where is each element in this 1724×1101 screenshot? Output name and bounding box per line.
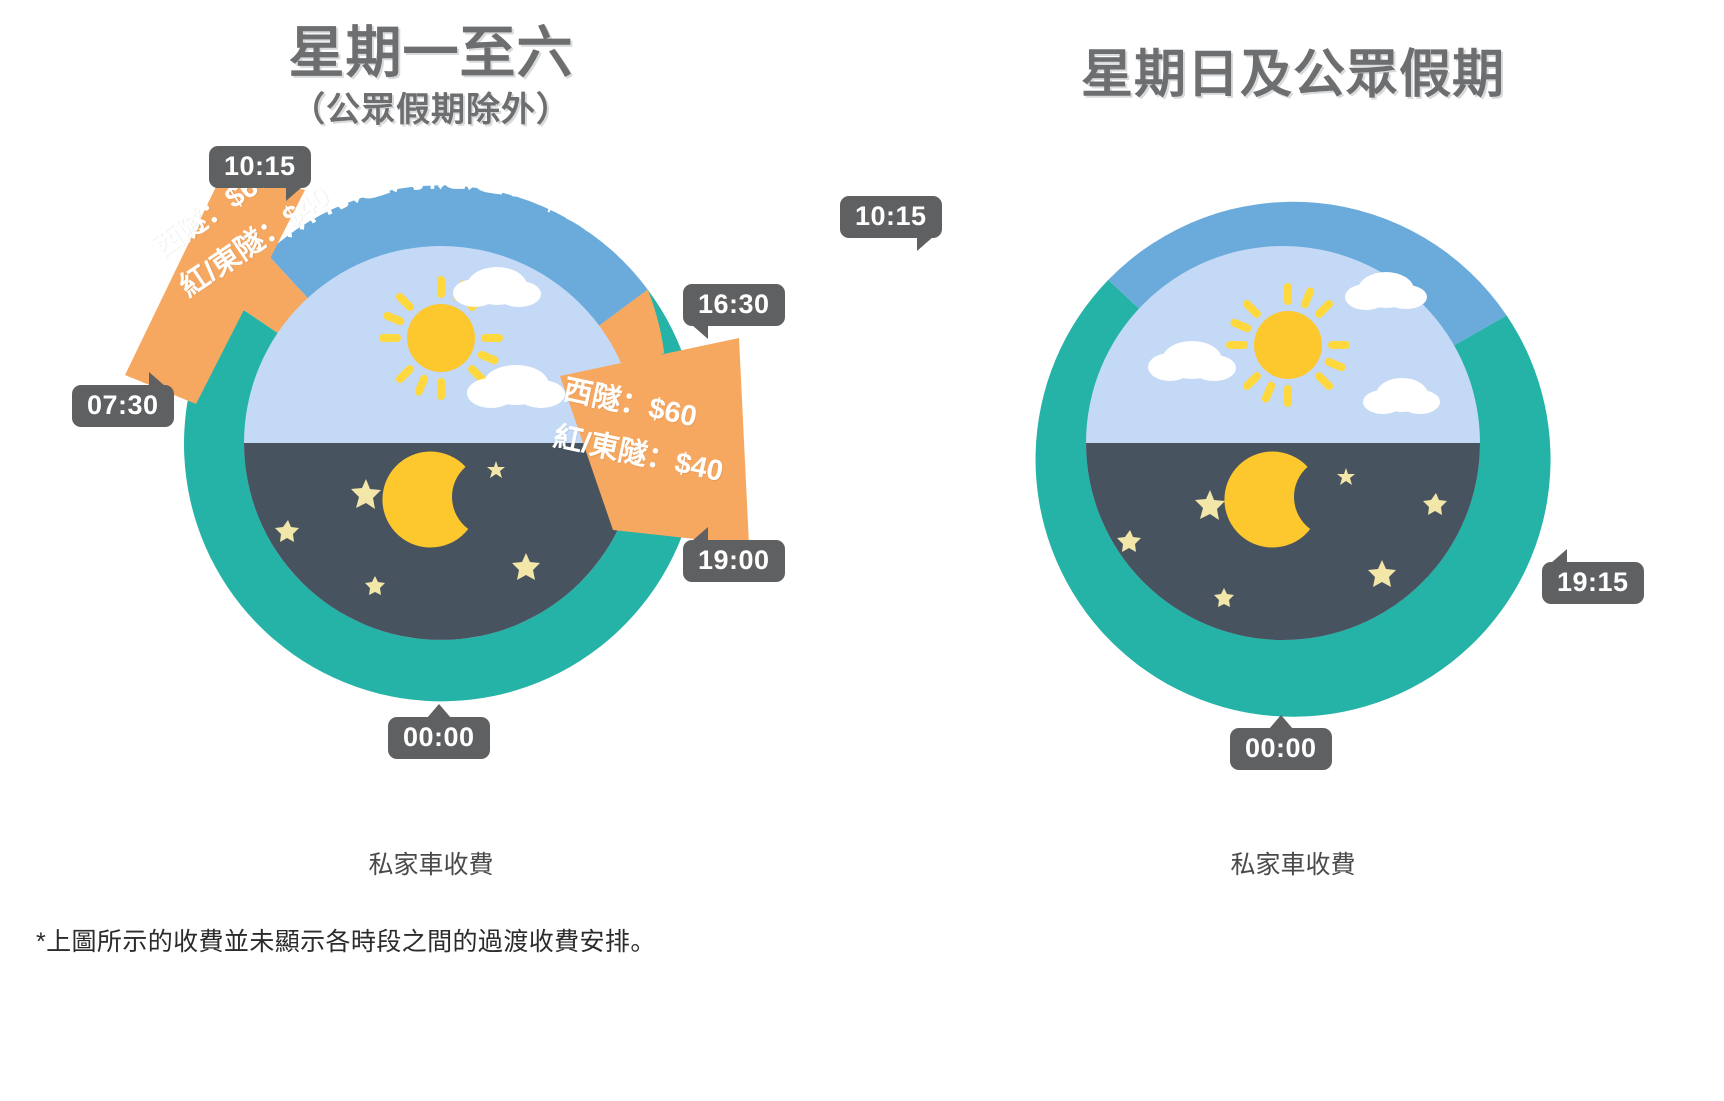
chip-tail xyxy=(149,372,165,386)
time-chip-0000: 00:00 xyxy=(1230,728,1332,770)
footnote-text: *上圖所示的收費並未顯示各時段之間的過渡收費安排。 xyxy=(36,922,656,958)
time-chip-1630: 16:30 xyxy=(683,284,785,326)
time-chip-1915: 19:15 xyxy=(1542,562,1644,604)
time-chip-1015: 10:15 xyxy=(840,196,942,238)
weekday-clock-diagram: 所有過海隧道：$30 所有過海隧道：$20 西隧：$60 紅/東隧：$40 西隧… xyxy=(0,0,862,780)
chip-tail xyxy=(1551,549,1567,563)
chip-tail xyxy=(1269,715,1293,729)
panel-sunday: 星期日及公眾假期 xyxy=(862,0,1724,1101)
time-chip-0730: 07:30 xyxy=(72,385,174,427)
time-chip-1900: 19:00 xyxy=(683,540,785,582)
chip-tail xyxy=(917,237,933,251)
time-chip-1015: 10:15 xyxy=(209,146,311,188)
sunday-clock-diagram: 所有過海隧道：$25 所有過海隧道：$20 10:15 19:15 00:00 xyxy=(862,0,1724,780)
sun-icon xyxy=(1226,283,1350,407)
chip-tail xyxy=(692,527,708,541)
caption-weekday: 私家車收費 xyxy=(0,845,862,881)
time-chip-0000: 00:00 xyxy=(388,717,490,759)
chip-tail xyxy=(427,704,451,718)
caption-sunday: 私家車收費 xyxy=(862,845,1724,881)
chip-tail xyxy=(286,187,302,201)
chip-tail xyxy=(692,325,708,339)
